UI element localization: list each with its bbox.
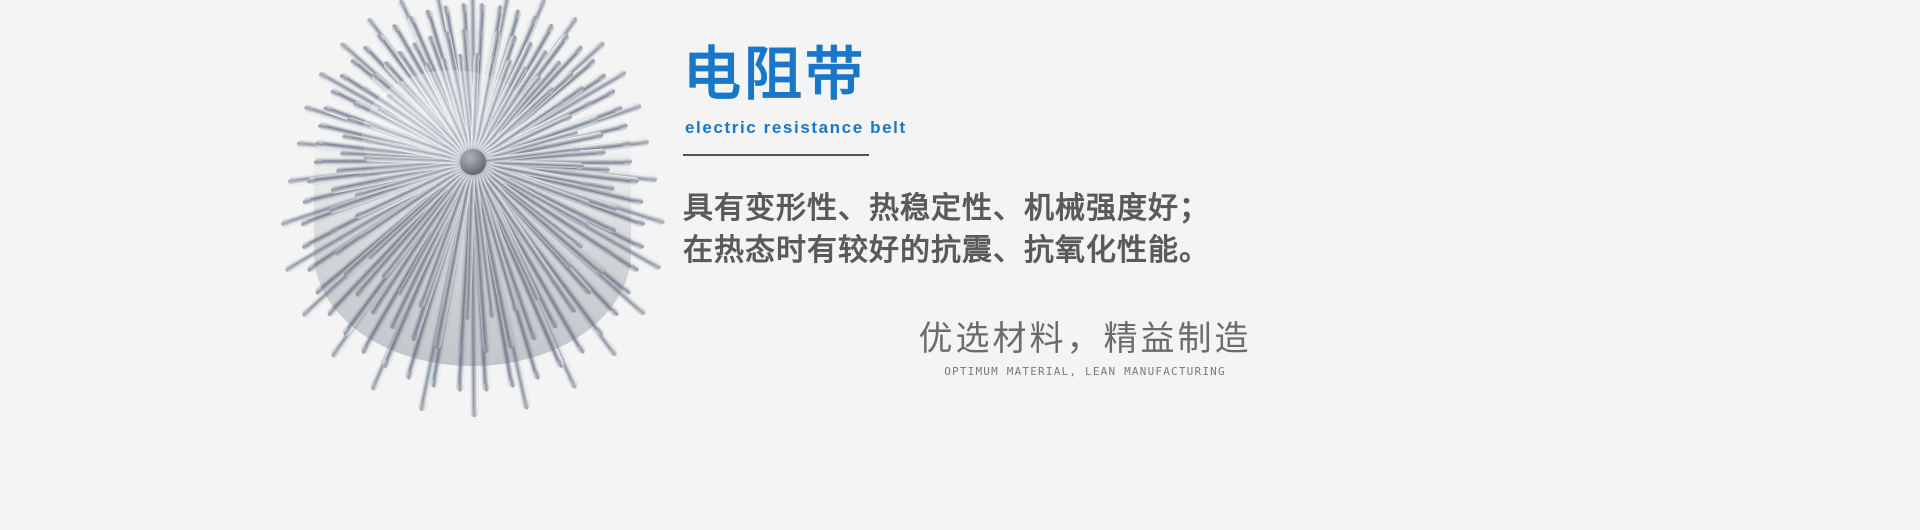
description-line-1: 具有变形性、热稳定性、机械强度好；	[683, 188, 1443, 230]
page-title: 电阻带	[683, 46, 907, 104]
title-block: 电阻带 electric resistance belt	[683, 46, 907, 156]
resistance-belt-burst	[300, 45, 645, 360]
tagline-block: 优选材料，精益制造 OPTIMUM MATERIAL, LEAN MANUFAC…	[775, 316, 1395, 379]
burst-core-hub	[460, 149, 486, 175]
product-banner: 电阻带 electric resistance belt 具有变形性、热稳定性、…	[0, 0, 1920, 530]
description-line-2: 在热态时有较好的抗震、抗氧化性能。	[683, 230, 1443, 272]
banner-content: 电阻带 electric resistance belt 具有变形性、热稳定性、…	[683, 0, 1803, 530]
tagline-english: OPTIMUM MATERIAL, LEAN MANUFACTURING	[775, 364, 1395, 379]
page-subtitle: electric resistance belt	[685, 118, 907, 138]
product-image	[300, 45, 645, 360]
tagline-chinese: 优选材料，精益制造	[775, 316, 1395, 362]
title-divider	[683, 154, 869, 156]
description-block: 具有变形性、热稳定性、机械强度好； 在热态时有较好的抗震、抗氧化性能。	[683, 188, 1443, 272]
